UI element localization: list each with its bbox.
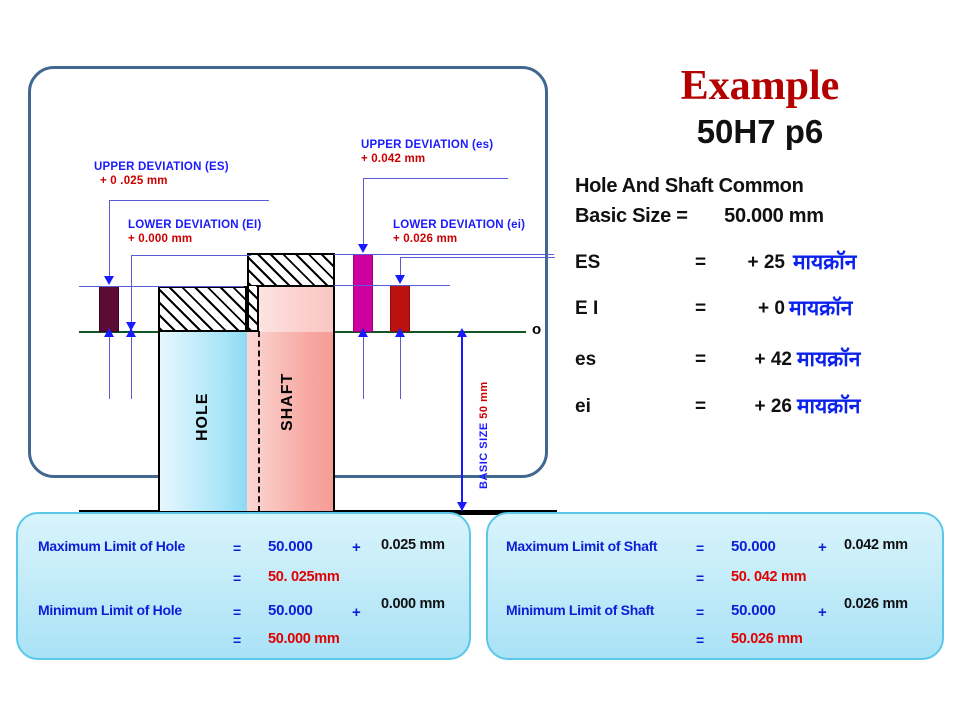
row-EI-equals: = <box>695 298 706 320</box>
hole-max-equals: = <box>233 540 241 556</box>
basic-size-amount: 50.000 mm <box>724 205 824 227</box>
arrow-ei-up <box>395 328 405 337</box>
row-es-symbol: es <box>575 349 596 371</box>
callout-ei-title: LOWER DEVIATION (ei) <box>393 219 525 232</box>
tolerance-diagram-panel: o HOLE SHAFT UPPER DEVIATION (ES) + 0 .0… <box>28 66 548 478</box>
shaft-tolerance-overlap <box>247 286 259 332</box>
row-ES-symbol: ES <box>575 252 600 274</box>
shaft-caption: SHAFT <box>279 373 297 431</box>
row-ES-unit: मायक्रॉन <box>793 248 856 276</box>
shaft-tolerance-zone <box>247 253 335 287</box>
shaft-max-result: 50. 042 mm <box>731 569 806 585</box>
shaft-lower-deviation-bar <box>390 285 410 332</box>
leader-ei-horizontal <box>400 257 555 258</box>
shaft-min-deviation: 0.026 mm <box>844 596 908 612</box>
callout-ei-value: + 0.026 mm <box>393 232 525 246</box>
hole-max-result-equals: = <box>233 570 241 586</box>
hole-caption: HOLE <box>194 393 212 441</box>
hole-max-label: Maximum Limit of Hole <box>38 538 185 554</box>
leader-es-horizontal <box>363 178 508 179</box>
row-ES-equals: = <box>695 252 706 274</box>
callout-EI-value: + 0.000 mm <box>128 232 261 246</box>
hole-min-label: Minimum Limit of Hole <box>38 602 182 618</box>
basic-size-value: 50 mm <box>478 381 490 418</box>
row-EI-symbol: E I <box>575 298 598 320</box>
hole-upper-deviation-bar <box>99 286 119 332</box>
example-fit-code: 50H7 p6 <box>560 113 960 151</box>
shaft-upper-deviation-bar <box>353 254 373 332</box>
shaft-max-deviation: 0.042 mm <box>844 537 908 553</box>
row-EI-value: + 0 <box>723 298 785 320</box>
hole-shaft-joint-line <box>258 331 260 512</box>
shaft-upper-fill <box>259 286 335 332</box>
arrow-es-down <box>358 244 368 253</box>
basic-size-line: Basic Size = 50.000 mm <box>575 205 824 228</box>
callout-EI-title: LOWER DEVIATION (EI) <box>128 219 261 232</box>
row-ei-unit: मायक्रॉन <box>797 392 860 420</box>
zero-line-marker: o <box>532 321 541 338</box>
hole-min-plus: + <box>352 604 361 621</box>
leader-ei-vertical <box>400 257 401 275</box>
EI-measure-line <box>131 337 132 399</box>
shaft-limits-box: Maximum Limit of Shaft = 50.000 + 0.042 … <box>486 512 944 660</box>
shaft-min-label: Minimum Limit of Shaft <box>506 602 654 618</box>
arrow-basic-down <box>457 502 467 511</box>
basic-size-dimension-label: BASIC SIZE 50 mm <box>478 381 490 489</box>
shaft-max-plus: + <box>818 539 827 556</box>
arrow-ES-up <box>104 328 114 337</box>
row-es-value: + 42 <box>730 349 792 371</box>
leader-EI-vertical <box>131 255 132 322</box>
arrow-es-up <box>358 328 368 337</box>
hole-max-plus: + <box>352 539 361 556</box>
row-ES-value: + 25 <box>723 252 785 274</box>
leader-ES-vertical <box>109 200 110 276</box>
hole-min-result: 50.000 mm <box>268 631 339 647</box>
arrow-ES-down <box>104 276 114 285</box>
callout-es-title: UPPER DEVIATION (es) <box>361 139 493 152</box>
leader-ES-horizontal <box>109 200 269 201</box>
arrow-EI-up <box>126 328 136 337</box>
shaft-max-label: Maximum Limit of Shaft <box>506 538 657 554</box>
shaft-min-result: 50.026 mm <box>731 631 802 647</box>
ES-level-line <box>79 286 244 287</box>
shaft-min-base: 50.000 <box>731 602 776 619</box>
basic-size-caption: BASIC SIZE <box>478 422 490 489</box>
ES-measure-line <box>109 337 110 399</box>
shaft-min-plus: + <box>818 604 827 621</box>
row-es-unit: मायक्रॉन <box>797 345 860 373</box>
hole-tolerance-zone <box>158 286 247 332</box>
basic-size-dimension-line <box>461 333 463 511</box>
row-ei-equals: = <box>695 396 706 418</box>
arrow-basic-up <box>457 328 467 337</box>
callout-lower-deviation-shaft: LOWER DEVIATION (ei) + 0.026 mm <box>393 219 525 246</box>
row-ei-symbol: ei <box>575 396 591 418</box>
es-measure-line <box>363 337 364 399</box>
callout-upper-deviation-hole: UPPER DEVIATION (ES) + 0 .025 mm <box>94 161 229 188</box>
hole-min-deviation: 0.000 mm <box>381 596 445 612</box>
hole-max-result: 50. 025mm <box>268 569 339 585</box>
shaft-max-result-equals: = <box>696 570 704 586</box>
hole-limits-box: Maximum Limit of Hole = 50.000 + 0.025 m… <box>16 512 471 660</box>
es-level-line <box>334 254 554 255</box>
shaft-max-equals: = <box>696 540 704 556</box>
hole-max-base: 50.000 <box>268 538 313 555</box>
example-title: Example <box>560 62 960 110</box>
hole-min-equals: = <box>233 604 241 620</box>
shaft-min-equals: = <box>696 604 704 620</box>
callout-lower-deviation-hole: LOWER DEVIATION (EI) + 0.000 mm <box>128 219 261 246</box>
ei-measure-line <box>400 337 401 399</box>
leader-EI-horizontal <box>131 255 251 256</box>
arrow-ei-down <box>395 275 405 284</box>
callout-ES-value: + 0 .025 mm <box>100 174 229 188</box>
callout-upper-deviation-shaft: UPPER DEVIATION (es) + 0.042 mm <box>361 139 493 166</box>
ei-level-line <box>334 285 450 286</box>
callout-es-value: + 0.042 mm <box>361 152 493 166</box>
leader-es-vertical <box>363 178 364 244</box>
callout-ES-title: UPPER DEVIATION (ES) <box>94 161 229 174</box>
slide-root: o HOLE SHAFT UPPER DEVIATION (ES) + 0 .0… <box>0 0 960 720</box>
row-es-equals: = <box>695 349 706 371</box>
hole-min-result-equals: = <box>233 632 241 648</box>
row-EI-unit: मायक्रॉन <box>789 294 852 322</box>
row-ei-value: + 26 <box>730 396 792 418</box>
hole-shaft-common-line: Hole And Shaft Common <box>575 175 804 198</box>
shaft-max-base: 50.000 <box>731 538 776 555</box>
hole-min-base: 50.000 <box>268 602 313 619</box>
basic-size-label: Basic Size = <box>575 205 688 227</box>
hole-max-deviation: 0.025 mm <box>381 537 445 553</box>
shaft-min-result-equals: = <box>696 632 704 648</box>
